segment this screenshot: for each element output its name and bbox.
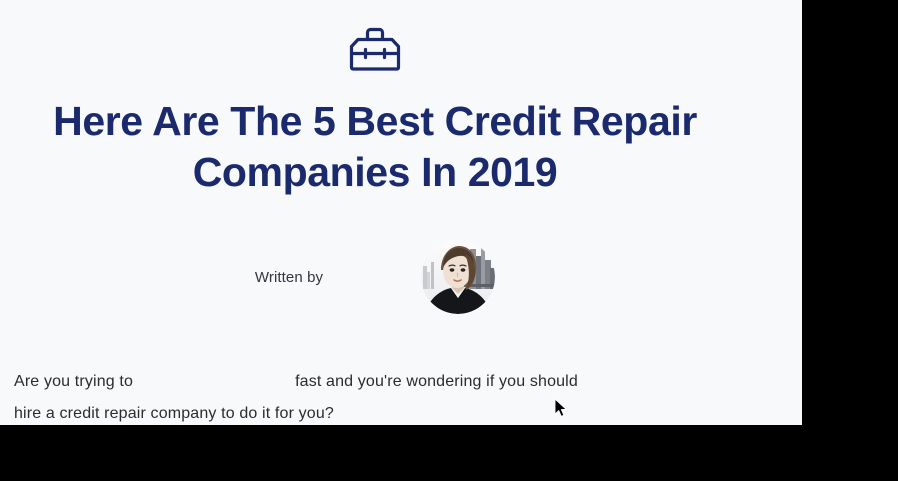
body-text-before-link: Are you trying to — [14, 373, 133, 390]
article-body-line-2: hire a credit repair company to do it fo… — [14, 398, 714, 425]
brand-icon-container — [0, 26, 750, 72]
page-title: Here Are The 5 Best Credit RepairCompani… — [0, 96, 750, 198]
toolbox-icon — [348, 26, 402, 72]
article-page: Here Are The 5 Best Credit RepairCompani… — [0, 0, 802, 425]
byline: Written by — [0, 232, 750, 322]
article-body-line-1: Are you trying tofast and you're wonderi… — [14, 366, 714, 398]
byline-label: Written by — [255, 269, 323, 286]
page-title-line-2: Companies In 2019 — [193, 149, 558, 195]
avatar[interactable] — [421, 240, 495, 314]
article-body: Are you trying tofast and you're wonderi… — [14, 366, 714, 425]
page-title-line-1: Here Are The 5 Best Credit Repair — [53, 98, 697, 144]
body-text-after-link: fast and you're wondering if you should — [295, 373, 578, 390]
screen-viewport: Here Are The 5 Best Credit RepairCompani… — [0, 0, 898, 481]
